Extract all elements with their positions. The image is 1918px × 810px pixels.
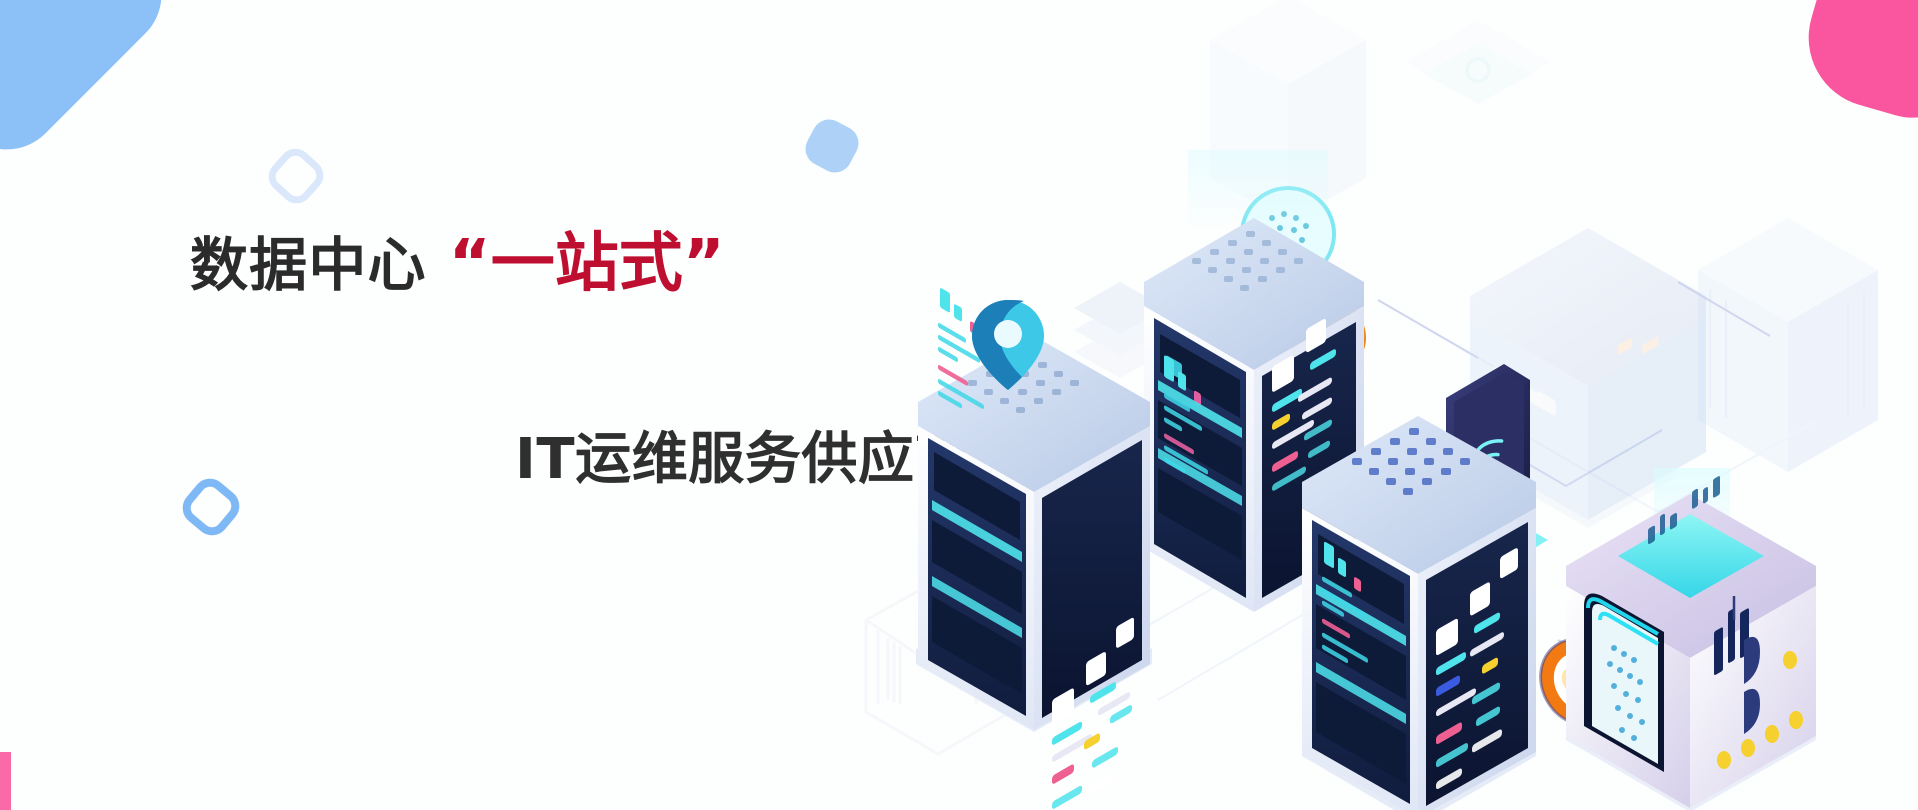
- wifi-tablet-icon: [1418, 364, 1548, 578]
- decor-blob-top-left: [0, 0, 184, 172]
- decor-blob-top-right: [1792, 0, 1918, 132]
- server-rack-right: [1302, 416, 1536, 810]
- orange-ring-icon: [1526, 625, 1634, 738]
- ghost-building-icon: [1210, 0, 1366, 222]
- headline-highlight: “一站式”: [449, 227, 725, 301]
- location-pin-icon: [1290, 300, 1366, 410]
- decor-ghost-cube-icon: [858, 572, 1018, 762]
- headline-block: 数据中心“一站式” IT运维服务供应商: [190, 228, 1090, 495]
- server-rack-center: [1144, 150, 1364, 612]
- cabinet-display: [1714, 596, 1760, 734]
- decor-square-blue: [800, 114, 865, 179]
- rack-right-screens: [1272, 318, 1336, 492]
- decor-ring-pale-blue: [262, 142, 330, 210]
- connector-lines: [1288, 282, 1770, 748]
- headline-prefix: 数据中心: [190, 231, 427, 299]
- monitor-right-icon: [1130, 364, 1282, 552]
- headline-line-2: IT运维服务供应商: [515, 414, 1090, 495]
- hero-banner: 数据中心“一站式” IT运维服务供应商: [0, 0, 1918, 810]
- decor-bar-bottom-left: [0, 752, 11, 810]
- cabinet-indicator-lights: [1717, 651, 1803, 769]
- magnifier-icon: [1242, 188, 1334, 312]
- headline-line-1: 数据中心“一站式”: [190, 228, 1090, 302]
- rack-left-screens: [1158, 334, 1242, 560]
- ghost-rack-icon: [1698, 218, 1878, 472]
- ghost-rack-right-icon: [1470, 228, 1706, 528]
- cooling-cabinet: [1566, 468, 1816, 810]
- ghost-screen-icon: [1406, 20, 1550, 104]
